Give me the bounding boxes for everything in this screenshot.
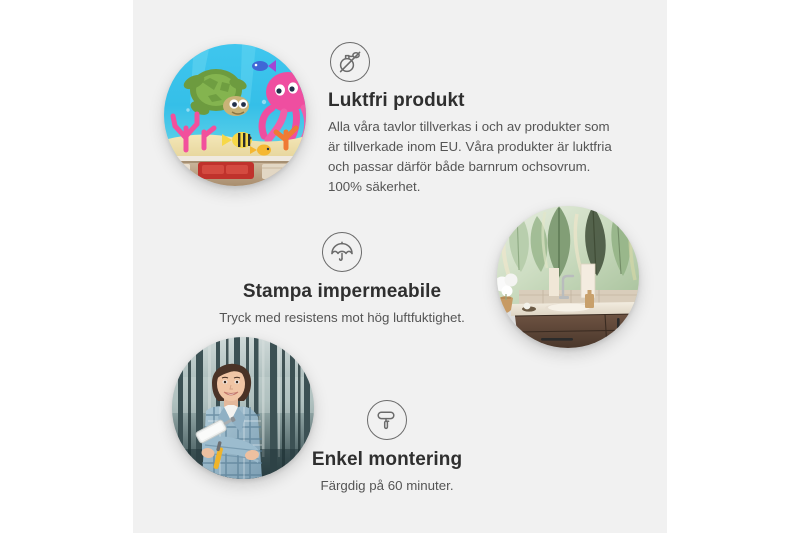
umbrella-icon <box>322 232 362 272</box>
feature-body: Färgdig på 60 minuter. <box>262 476 512 496</box>
no-fragrance-spray-icon <box>330 42 370 82</box>
paint-roller-icon <box>367 400 407 440</box>
feature-title: Stampa impermeabile <box>212 281 472 304</box>
photo-underwater-mural[interactable] <box>164 44 306 186</box>
feature-odourless: Luktfri produkt Alla våra tavlor tillver… <box>328 42 616 198</box>
photo-bathroom-wallpaper[interactable] <box>497 206 639 348</box>
feature-body: Tryck med resistens mot hög luftfuktighe… <box>212 308 472 328</box>
feature-showcase: Luktfri produkt Alla våra tavlor tillver… <box>0 0 800 533</box>
feature-title: Enkel montering <box>262 449 512 472</box>
feature-body: Alla våra tavlor tillverkas i och av pro… <box>328 117 616 198</box>
feature-waterproof: Stampa impermeabile Tryck med resistens … <box>212 232 472 328</box>
feature-title: Luktfri produkt <box>328 90 616 113</box>
feature-easy-mount: Enkel montering Färgdig på 60 minuter. <box>262 400 512 496</box>
